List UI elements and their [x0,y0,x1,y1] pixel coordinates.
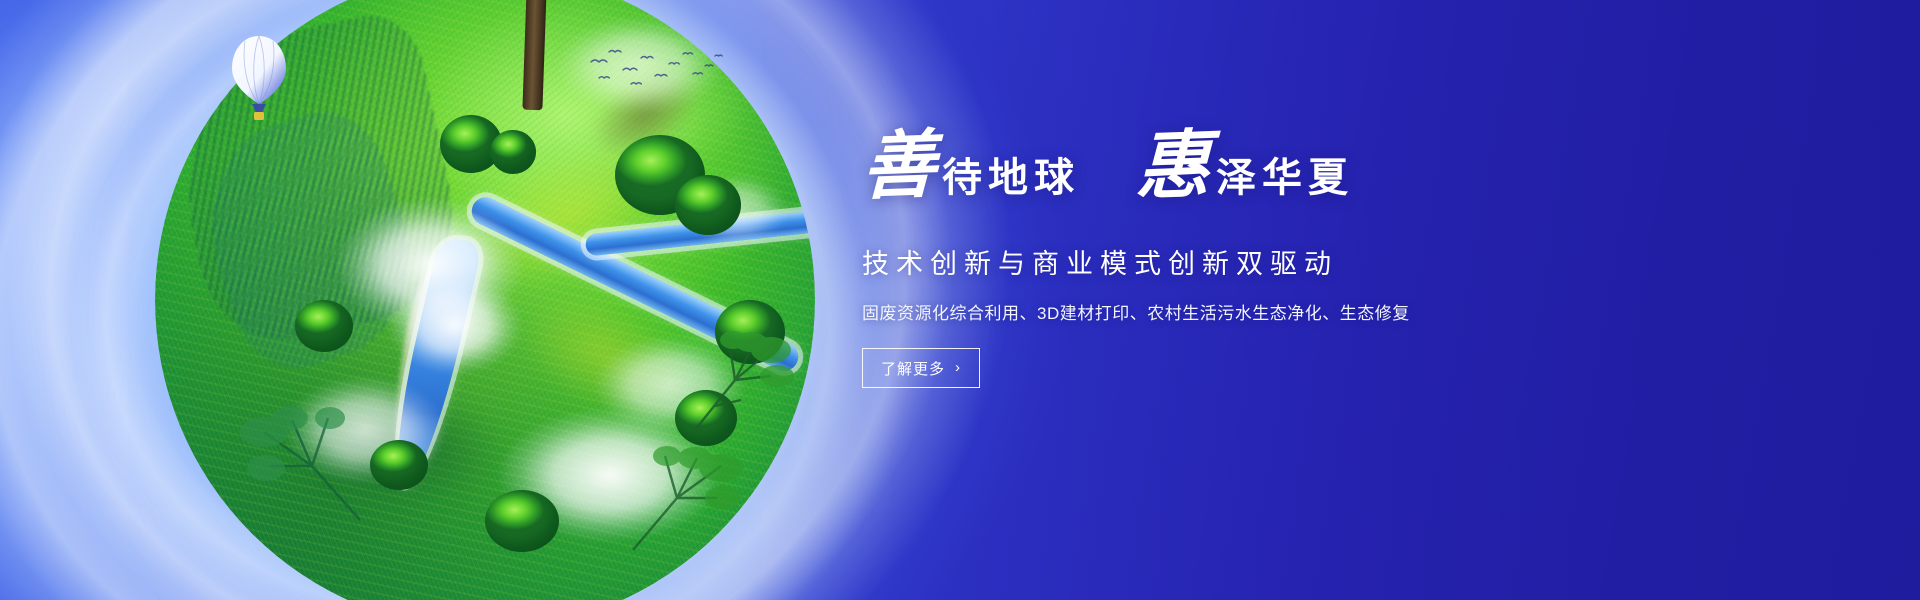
banner-subtitle: 技术创新与商业模式创新双驱动 [862,242,1562,281]
rim-tree [685,330,805,440]
tree-clump [490,130,536,174]
banner-copy: 善 待地球 惠 泽华夏 技术创新与商业模式创新双驱动 固废资源化综合利用、3D建… [862,130,1562,388]
cloud-puff [380,270,530,380]
headline-char-hui: 惠 [1135,129,1210,206]
headline-text-daidiqiu: 待地球 [942,158,1080,198]
bird-flock [585,44,725,96]
chevron-right-icon: › [955,360,961,375]
hot-air-balloon [228,32,290,128]
headline-char-shan: 善 [861,129,936,206]
headline: 善 待地球 惠 泽华夏 [862,130,1562,226]
headline-phrase-1: 善 待地球 [862,130,1080,204]
tree-clump [675,175,741,235]
headline-phrase-2: 惠 泽华夏 [1136,130,1354,204]
rim-tree [625,440,755,560]
tree-clump [295,300,353,352]
banner-description: 固废资源化综合利用、3D建材打印、农村生活污水生态净化、生态修复 [862,299,1562,324]
hero-banner: 善 待地球 惠 泽华夏 技术创新与商业模式创新双驱动 固废资源化综合利用、3D建… [0,0,1920,600]
tree-clump [485,490,559,552]
learn-more-label: 了解更多 [881,358,945,379]
tree-trunk [522,0,547,110]
headline-text-zehuaxia: 泽华夏 [1216,158,1354,198]
tree-clump [370,440,428,490]
rim-tree [230,390,370,530]
learn-more-button[interactable]: 了解更多 › [862,348,980,388]
